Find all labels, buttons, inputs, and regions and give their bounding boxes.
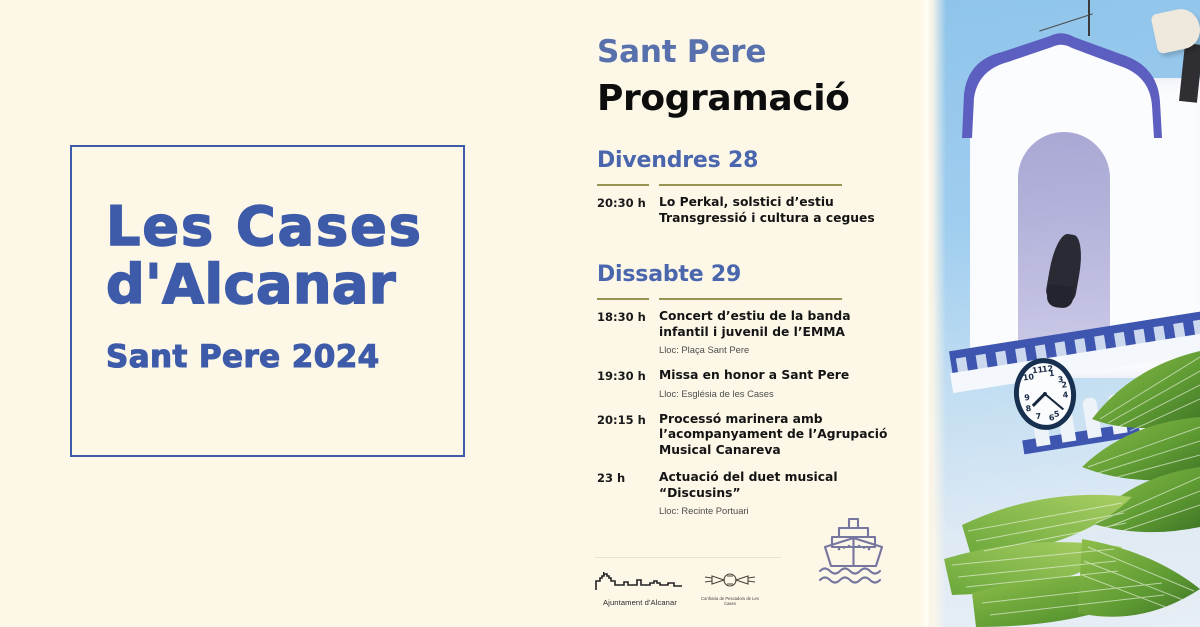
- event-time: 20:30 h: [597, 195, 659, 226]
- poster-title-line-2: d'Alcanar: [106, 256, 466, 314]
- event-title: Concert d’estiu de la banda infantil i j…: [659, 309, 897, 340]
- list-item: 20:15 h Processó marinera amb l’acompany…: [597, 412, 897, 459]
- event-place: Lloc: Església de les Cases: [659, 388, 897, 400]
- event-time: 19:30 h: [597, 368, 659, 400]
- left-panel: Les Cases d'Alcanar Sant Pere 2024: [0, 0, 560, 627]
- poster-root: Les Cases d'Alcanar Sant Pere 2024 Sant …: [0, 0, 1200, 627]
- photo-gutter: [920, 0, 932, 627]
- day-title: Dissabte 29: [597, 262, 897, 287]
- list-item: 19:30 h Missa en honor a Sant Pere Lloc:…: [597, 368, 897, 400]
- event-time: 18:30 h: [597, 309, 659, 356]
- event-body: Missa en honor a Sant Pere Lloc: Esglési…: [659, 368, 897, 400]
- logo-ajuntament-caption: Ajuntament d'Alcanar: [594, 598, 686, 607]
- palm-fronds: [932, 327, 1200, 627]
- event-title: Actuació del duet musical “Discusins”: [659, 470, 897, 501]
- event-place: Lloc: Plaça Sant Pere: [659, 344, 897, 356]
- list-item: 18:30 h Concert d’estiu de la banda infa…: [597, 309, 897, 356]
- event-title: Missa en honor a Sant Pere: [659, 368, 897, 384]
- logo-ajuntament-alcanar: Ajuntament d'Alcanar: [594, 570, 686, 607]
- list-item: 23 h Actuació del duet musical “Discusin…: [597, 470, 897, 517]
- footer-divider: [595, 557, 781, 558]
- rule-time-column: [597, 184, 649, 186]
- event-body: Processó marinera amb l’acompanyament de…: [659, 412, 897, 459]
- logo-confraria-pescadors: Confraria de Pescadors de Les Cases: [697, 570, 763, 606]
- logo-confraria-caption: Confraria de Pescadors de Les Cases: [697, 596, 763, 606]
- day-rule-group: [597, 294, 897, 304]
- event-body: Concert d’estiu de la banda infantil i j…: [659, 309, 897, 356]
- gable-trim: [962, 30, 1162, 140]
- title-stack: Les Cases d'Alcanar Sant Pere 2024: [106, 198, 466, 374]
- ship-icon: [816, 516, 892, 588]
- event-title: Processó marinera amb l’acompanyament de…: [659, 412, 897, 459]
- rule-event-column: [659, 184, 842, 186]
- list-item: 20:30 h Lo Perkal, solstici d’estiu Tran…: [597, 195, 897, 226]
- photo-left-haze: [932, 0, 946, 627]
- poster-subtitle: Sant Pere 2024: [106, 340, 466, 374]
- day-title: Divendres 28: [597, 148, 897, 173]
- day-block-divendres: Divendres 28 20:30 h Lo Perkal, solstici…: [597, 148, 897, 226]
- event-list: 18:30 h Concert d’estiu de la banda infa…: [597, 309, 897, 517]
- program-header-small: Sant Pere: [597, 34, 766, 70]
- day-rule-group: [597, 180, 897, 190]
- church-tower-photo: 12 3 6 9 1 4 5 7 8 10 11 2: [932, 0, 1200, 627]
- event-time: 20:15 h: [597, 412, 659, 459]
- day-block-dissabte: Dissabte 29 18:30 h Concert d’estiu de l…: [597, 262, 897, 517]
- event-title: Lo Perkal, solstici d’estiu Transgressió…: [659, 195, 897, 226]
- rule-time-column: [597, 298, 649, 300]
- event-body: Actuació del duet musical “Discusins” Ll…: [659, 470, 897, 517]
- event-body: Lo Perkal, solstici d’estiu Transgressió…: [659, 195, 897, 226]
- event-time: 23 h: [597, 470, 659, 517]
- poster-title-line-1: Les Cases: [106, 198, 466, 256]
- program-header-big: Programació: [597, 78, 850, 119]
- rule-event-column: [659, 298, 842, 300]
- fishermens-guild-icon: [697, 570, 763, 590]
- alcanar-skyline-icon: [594, 570, 686, 592]
- event-list: 20:30 h Lo Perkal, solstici d’estiu Tran…: [597, 195, 897, 226]
